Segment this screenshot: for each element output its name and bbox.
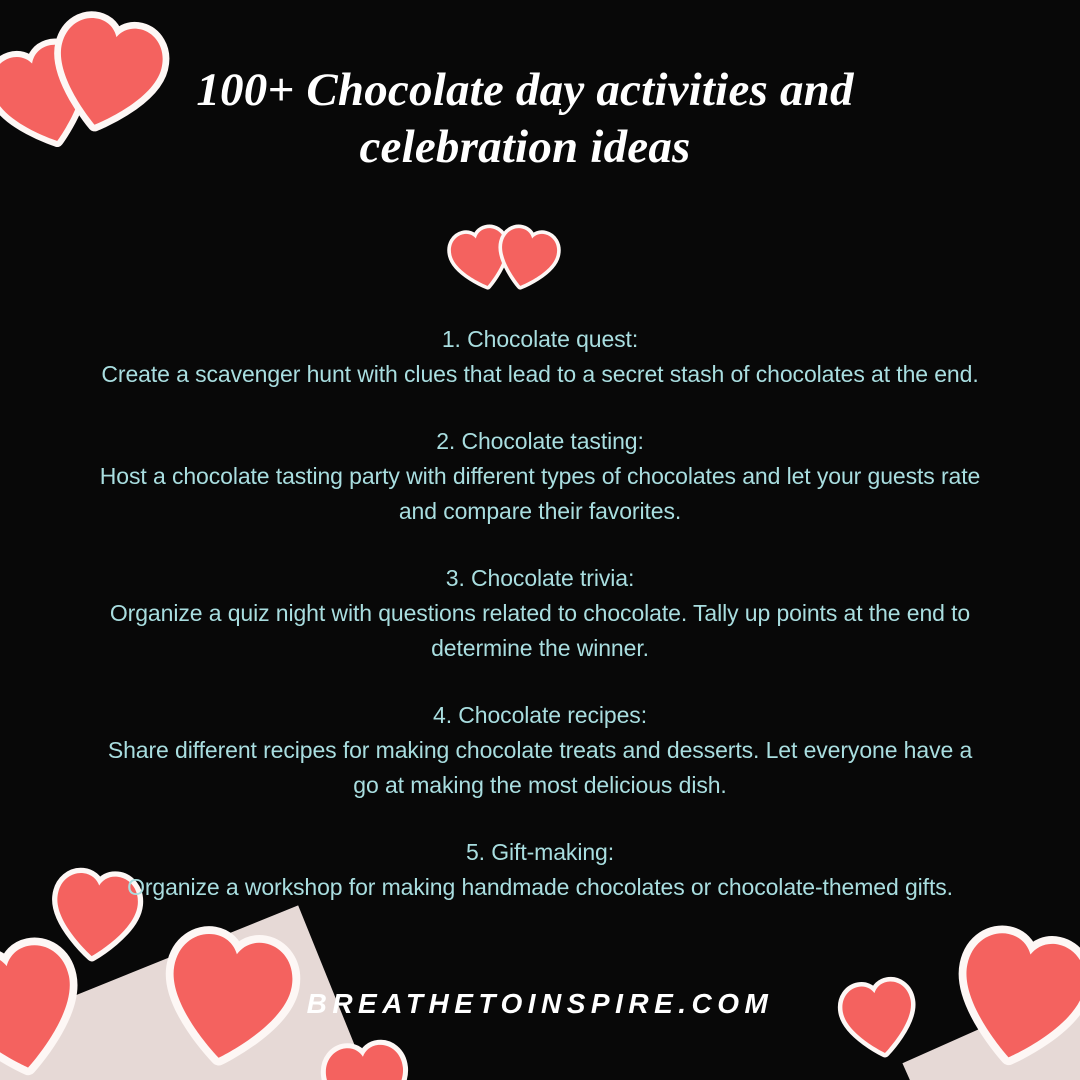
list-item-heading: 3. Chocolate trivia: — [95, 561, 985, 596]
activities-list: 1. Chocolate quest: Create a scavenger h… — [95, 322, 985, 905]
list-item-description: Host a chocolate tasting party with diff… — [95, 459, 985, 529]
list-item: 1. Chocolate quest: Create a scavenger h… — [95, 322, 985, 392]
list-item-heading: 1. Chocolate quest: — [95, 322, 985, 357]
list-item: 4. Chocolate recipes: Share different re… — [95, 698, 985, 803]
page-title-line-2: celebration ideas — [110, 119, 940, 176]
list-item-heading: 5. Gift-making: — [95, 835, 985, 870]
list-item: 5. Gift-making: Organize a workshop for … — [95, 835, 985, 905]
list-item-description: Organize a workshop for making handmade … — [95, 870, 985, 905]
two-hearts-divider — [448, 222, 560, 297]
poster-canvas: 100+ Chocolate day activities and celebr… — [0, 0, 1080, 1080]
site-url[interactable]: BREATHETOINSPIRE.COM — [307, 988, 774, 1020]
list-item-heading: 4. Chocolate recipes: — [95, 698, 985, 733]
list-item-description: Create a scavenger hunt with clues that … — [95, 357, 985, 392]
list-item-description: Share different recipes for making choco… — [95, 733, 985, 803]
list-item: 2. Chocolate tasting: Host a chocolate t… — [95, 424, 985, 529]
page-title-line-1: 100+ Chocolate day activities and — [110, 62, 940, 119]
list-item-heading: 2. Chocolate tasting: — [95, 424, 985, 459]
list-item: 3. Chocolate trivia: Organize a quiz nig… — [95, 561, 985, 666]
footer: BREATHETOINSPIRE.COM — [0, 988, 1080, 1020]
page-title: 100+ Chocolate day activities and celebr… — [110, 62, 940, 176]
list-item-description: Organize a quiz night with questions rel… — [95, 596, 985, 666]
